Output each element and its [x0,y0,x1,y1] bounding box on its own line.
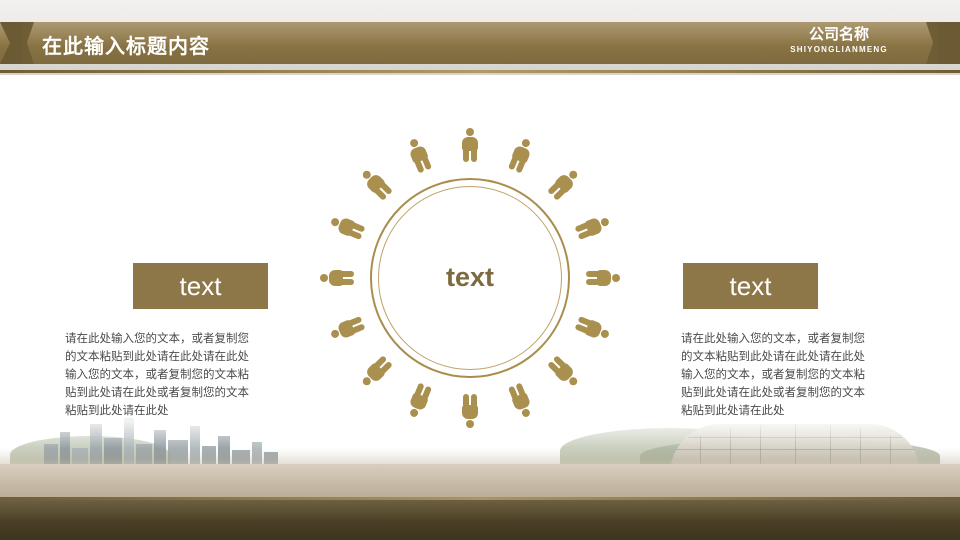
person-head [600,329,610,339]
left-paragraph: 请在此处输入您的文本，或者复制您的文本粘贴到此处请在此处请在此处输入您的文本，或… [65,330,251,420]
person-torso [462,137,478,151]
person-leg [463,150,469,162]
header-divider-secondary [0,73,960,75]
page-title: 在此输入标题内容 [42,30,210,59]
person-glyph [506,136,536,174]
person-head [521,408,531,418]
person-glyph [506,382,536,420]
person-glyph [546,166,583,203]
center-circle-graphic: text [300,108,640,448]
person-glyph [461,128,479,162]
footer-highlight [0,500,960,522]
person-glyph [574,212,612,242]
person-glyph [404,136,434,174]
person-torso [462,405,478,419]
slide-footer [0,500,960,540]
ribbon-notch-right-icon [938,22,960,64]
center-label: text [300,262,640,293]
person-head [466,128,474,136]
person-leg [463,394,469,406]
ground [0,464,960,500]
person-glyph [328,314,366,344]
left-label-text: text [180,271,222,302]
right-paragraph: 请在此处输入您的文本，或者复制您的文本粘贴到此处请在此处请在此处输入您的文本，或… [681,330,867,420]
brand: 公司名称 SHIYONGLIANMENG [754,26,924,56]
person-glyph [328,212,366,242]
person-glyph [358,354,395,391]
person-glyph [404,382,434,420]
person-glyph [358,166,395,203]
person-glyph [461,394,479,428]
right-label-box[interactable]: text [683,263,818,309]
person-glyph [546,354,583,391]
person-leg [471,150,477,162]
left-label-box[interactable]: text [133,263,268,309]
person-glyph [574,314,612,344]
brand-name-cn: 公司名称 [754,26,924,44]
slide: 在此输入标题内容 公司名称 SHIYONGLIANMENG [0,0,960,540]
person-leg [471,394,477,406]
brand-name-en: SHIYONGLIANMENG [754,44,924,56]
person-head [466,420,474,428]
slide-header: 在此输入标题内容 公司名称 SHIYONGLIANMENG [0,0,960,70]
right-label-text: text [730,271,772,302]
